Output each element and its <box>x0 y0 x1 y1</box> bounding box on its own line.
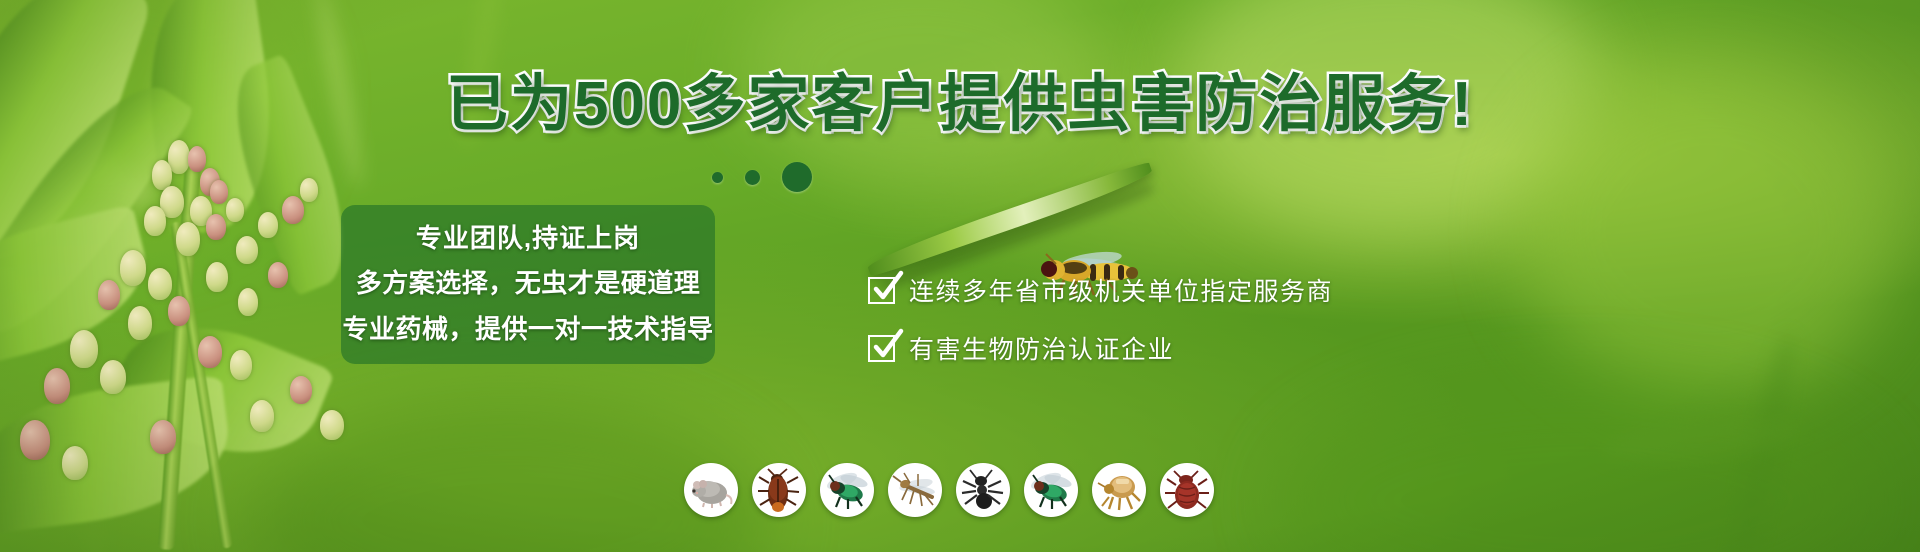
background-vignette <box>0 0 1920 552</box>
promo-banner: 已为500多家客户提供虫害防治服务! 专业团队,持证上岗 多方案选择，无虫才是硬… <box>0 0 1920 552</box>
